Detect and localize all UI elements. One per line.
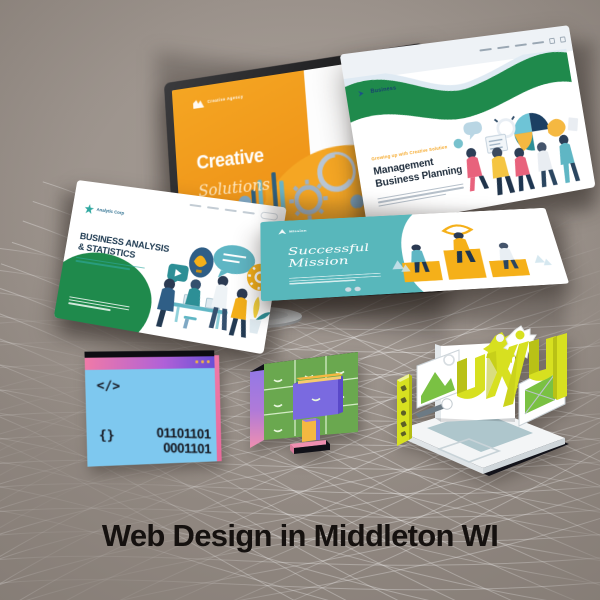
nav-dash: [189, 204, 201, 208]
teal-panel-dots: [345, 287, 361, 292]
nav-dash: [515, 43, 527, 47]
page-title: Web Design in Middleton WI: [0, 518, 600, 554]
binary-line-2: 0001101: [157, 441, 212, 457]
illustration-scene: Creative Agency: [0, 0, 600, 600]
teal-panel-title: Successful Mission: [288, 242, 372, 269]
nav-square-icon: [560, 36, 566, 42]
analysis-panel-logo: Analytic Corp: [84, 203, 125, 218]
code-brace-icon: {}: [99, 428, 115, 443]
nav-dash: [242, 211, 254, 215]
mission-podium-illustration: [383, 212, 563, 292]
code-browser-window: </> {} 01101101 0001101: [85, 355, 217, 466]
nav-dash: [532, 41, 544, 45]
filing-cabinet-illustration: [246, 344, 372, 470]
nav-dash: [207, 206, 219, 210]
screenshot-canvas: Creative Agency: [0, 0, 600, 600]
star-logo-icon: [84, 203, 95, 214]
mission-logo-icon: [278, 229, 286, 235]
binary-code-text: 01101101 0001101: [156, 426, 211, 456]
code-tag-icon: </>: [96, 378, 120, 394]
code-window-traffic-lights: [195, 360, 210, 364]
nav-dash: [497, 45, 509, 49]
ux-ui-laptop-illustration: [383, 318, 573, 484]
creative-logo-mark: [193, 99, 205, 109]
nav-dash: [479, 48, 492, 52]
nav-dash: [225, 209, 237, 213]
analysis-logo-text: Analytic Corp: [96, 207, 124, 216]
teal-logo-text: Mission: [289, 229, 307, 233]
chevron-logo-icon: [358, 88, 369, 98]
nav-square-icon: [549, 37, 555, 43]
